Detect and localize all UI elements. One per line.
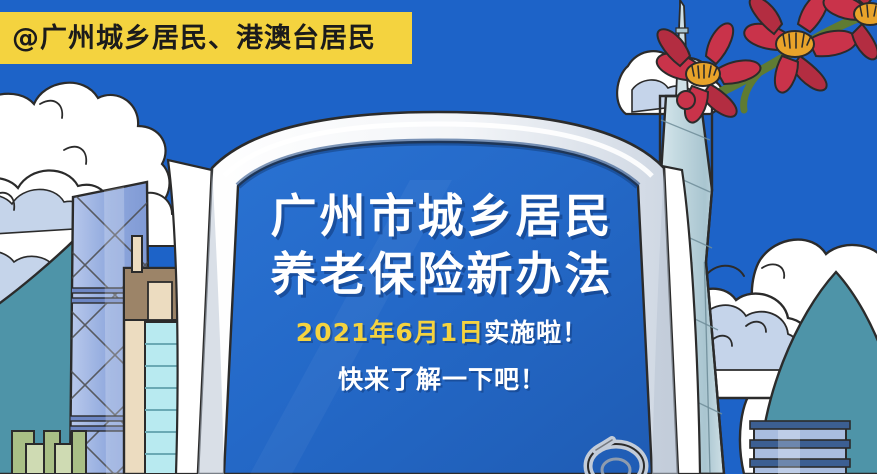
building-striped-right xyxy=(750,421,850,474)
scenery-illustration xyxy=(0,0,877,474)
building-green-low xyxy=(12,431,86,474)
shield-badge xyxy=(198,112,678,474)
poster-canvas: @广州城乡居民、港澳台居民 广州市城乡居民 养老保险新办法 2021年6月1日实… xyxy=(0,0,877,474)
audience-banner-text: @广州城乡居民、港澳台居民 xyxy=(12,25,376,52)
audience-banner: @广州城乡居民、港澳台居民 xyxy=(0,12,412,64)
